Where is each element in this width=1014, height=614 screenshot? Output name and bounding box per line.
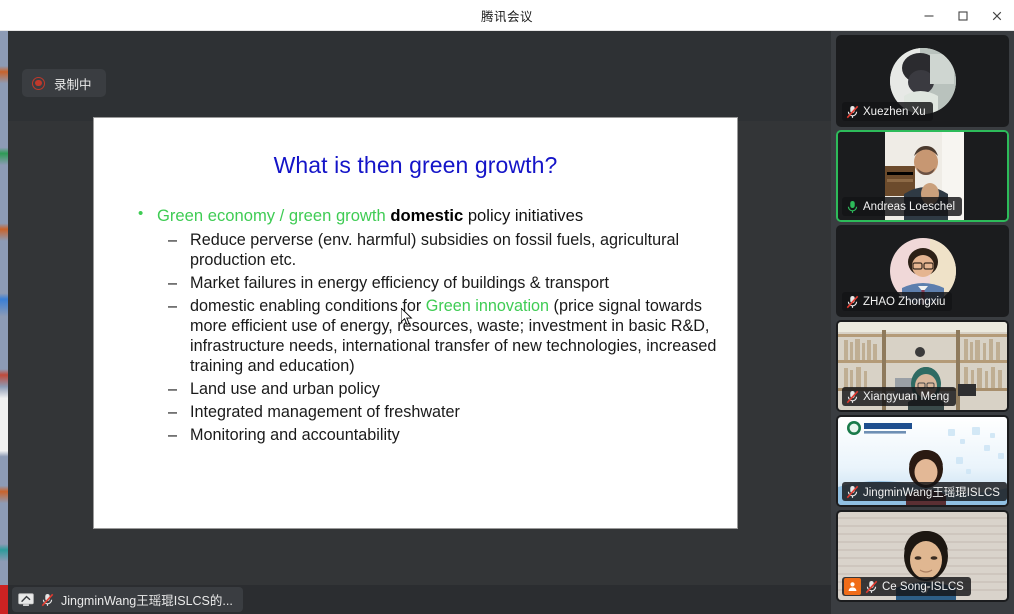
minimize-button[interactable] [912, 0, 946, 31]
slide-bullet: Integrated management of freshwater [168, 402, 723, 422]
slide-bullet: Market failures in energy efficiency of … [168, 273, 723, 293]
mic-muted-icon [865, 580, 878, 594]
close-icon [991, 10, 1003, 22]
maximize-button[interactable] [946, 0, 980, 31]
maximize-icon [957, 10, 969, 22]
window-controls [912, 0, 1014, 31]
slide-bullet-text: Green economy / green growth [157, 206, 390, 225]
participant-name-chip: ZHAO Zhongxiu [842, 292, 952, 311]
participant-tile[interactable]: Andreas Loeschel [836, 130, 1009, 222]
participant-tile[interactable]: Xuezhen Xu [836, 35, 1009, 127]
mic-muted-icon [846, 105, 859, 119]
participant-rail[interactable]: Xuezhen Xu [831, 31, 1014, 614]
participant-name: ZHAO Zhongxiu [863, 296, 945, 308]
slide-bullet-text: Green innovation [426, 297, 549, 315]
participant-name-chip: Ce Song-ISLCS [842, 577, 971, 596]
mic-muted-icon [846, 390, 859, 404]
screen-share-label: JingminWang王瑶琨ISLCS的... [61, 590, 233, 609]
participant-tile[interactable]: Ce Song-ISLCS [836, 510, 1009, 602]
mic-muted-icon [846, 295, 859, 309]
recording-badge: 录制中 [22, 69, 106, 97]
record-dot-icon [32, 77, 45, 90]
slide-bullet: Reduce perverse (env. harmful) subsidies… [168, 230, 723, 270]
participant-name: Xuezhen Xu [863, 106, 926, 118]
recording-label: 录制中 [54, 74, 92, 93]
mic-muted-icon [846, 485, 859, 499]
slide-bullet-text: domestic enabling conditions for [190, 297, 426, 315]
presentation-slide: What is then green growth? Green economy… [93, 117, 738, 529]
mic-muted-icon [41, 593, 54, 607]
participant-name: Xiangyuan Meng [863, 391, 949, 403]
participant-tile[interactable]: Xiangyuan Meng [836, 320, 1009, 412]
mic-active-icon [846, 200, 859, 214]
tencent-meeting-window: 腾讯会议 录制中 [0, 0, 1014, 614]
close-button[interactable] [980, 0, 1014, 31]
slide-bullet: Green economy / green growth domestic po… [138, 205, 723, 227]
background-window-sliver [0, 31, 8, 614]
participant-name: Ce Song-ISLCS [882, 581, 964, 593]
title-bar: 腾讯会议 [0, 0, 1014, 31]
stage-top-band [8, 31, 831, 121]
slide-bullet-text: Monitoring and accountability [190, 426, 400, 444]
slide-bullet-text: Land use and urban policy [190, 380, 380, 398]
bottom-status-bar: JingminWang王瑶琨ISLCS的... [8, 585, 831, 614]
slide-bullet-text: Integrated management of freshwater [190, 403, 460, 421]
window-title: 腾讯会议 [481, 6, 533, 25]
monitor-share-icon [18, 593, 34, 607]
shared-screen-stage[interactable]: 录制中 What is then green growth? Green eco… [8, 31, 831, 614]
slide-bullet-text: domestic [390, 206, 463, 225]
participant-name: Andreas Loeschel [863, 201, 955, 213]
minimize-icon [923, 10, 935, 22]
slide-body: Green economy / green growth domestic po… [94, 205, 737, 445]
slide-bullet-text: policy initiatives [463, 206, 583, 225]
host-badge-icon [844, 578, 861, 595]
participant-name-chip: Xiangyuan Meng [842, 387, 956, 406]
participant-name: JingminWang王瑶琨ISLCS [863, 484, 1000, 500]
background-window-bottom-strip [0, 585, 8, 614]
participant-name-chip: JingminWang王瑶琨ISLCS [842, 482, 1007, 501]
participant-tile[interactable]: JingminWang王瑶琨ISLCS [836, 415, 1009, 507]
slide-bullet: Land use and urban policy [168, 379, 723, 399]
slide-bullet: domestic enabling conditions for Green i… [168, 296, 723, 376]
participant-tile[interactable]: ZHAO Zhongxiu [836, 225, 1009, 317]
slide-bullet: Monitoring and accountability [168, 425, 723, 445]
participant-name-chip: Andreas Loeschel [842, 197, 962, 216]
slide-bullet-text: Reduce perverse (env. harmful) subsidies… [190, 231, 679, 269]
participant-name-chip: Xuezhen Xu [842, 102, 933, 121]
slide-bullet-text: Market failures in energy efficiency of … [190, 274, 609, 292]
screen-share-status-chip[interactable]: JingminWang王瑶琨ISLCS的... [12, 587, 243, 612]
slide-title: What is then green growth? [94, 152, 737, 179]
